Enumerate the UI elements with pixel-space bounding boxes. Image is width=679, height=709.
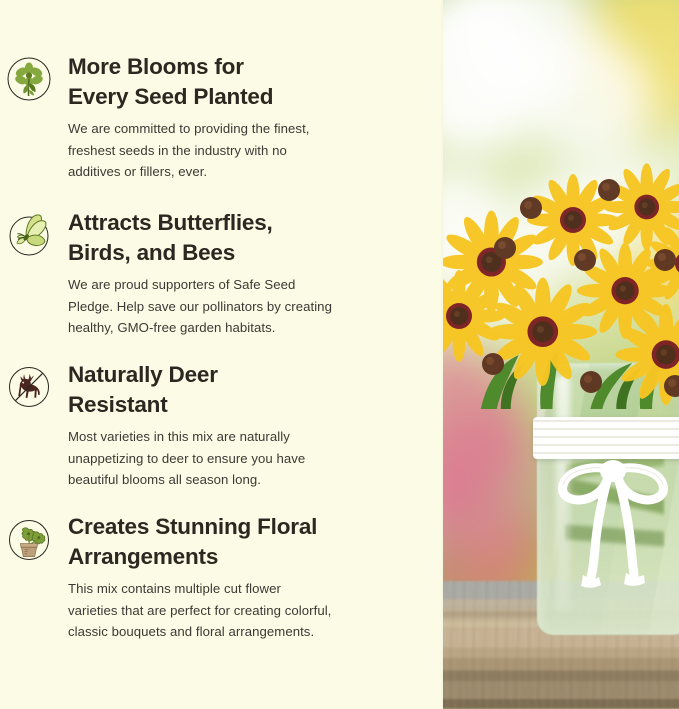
feature-description: We are proud supporters of Safe Seed Ple… <box>68 274 411 339</box>
feature-text: Naturally Deer Resistant Most varieties … <box>52 360 441 491</box>
black-eyed-susan-bouquet-photo <box>441 0 679 709</box>
flower-bloom-icon <box>6 56 52 102</box>
deer-prohibited-icon <box>6 364 52 410</box>
potted-plant-icon <box>6 516 52 562</box>
feature-title: Attracts Butterflies, Birds, and Bees <box>68 208 411 268</box>
panel-divider <box>441 0 443 709</box>
features-panel: More Blooms for Every Seed Planted We ar… <box>0 0 441 709</box>
feature-title: More Blooms for Every Seed Planted <box>68 52 411 112</box>
feature-item-more-blooms: More Blooms for Every Seed Planted We ar… <box>0 52 441 183</box>
product-feature-page: More Blooms for Every Seed Planted We ar… <box>0 0 679 709</box>
product-photo-panel <box>441 0 679 709</box>
feature-text: Creates Stunning Floral Arrangements Thi… <box>52 512 441 643</box>
feature-text: More Blooms for Every Seed Planted We ar… <box>52 52 441 183</box>
feature-item-floral-arrangements: Creates Stunning Floral Arrangements Thi… <box>0 512 441 643</box>
feature-description: This mix contains multiple cut flower va… <box>68 578 411 643</box>
feature-description: We are committed to providing the finest… <box>68 118 411 183</box>
feature-item-deer-resistant: Naturally Deer Resistant Most varieties … <box>0 360 441 491</box>
feature-title: Naturally Deer Resistant <box>68 360 411 420</box>
feature-item-attracts-pollinators: Attracts Butterflies, Birds, and Bees We… <box>0 208 441 339</box>
feature-title: Creates Stunning Floral Arrangements <box>68 512 411 572</box>
feature-description: Most varieties in this mix are naturally… <box>68 426 411 491</box>
feature-text: Attracts Butterflies, Birds, and Bees We… <box>52 208 441 339</box>
butterfly-icon <box>6 212 52 258</box>
rope-bow <box>537 451 679 601</box>
flower-cluster <box>441 150 679 430</box>
